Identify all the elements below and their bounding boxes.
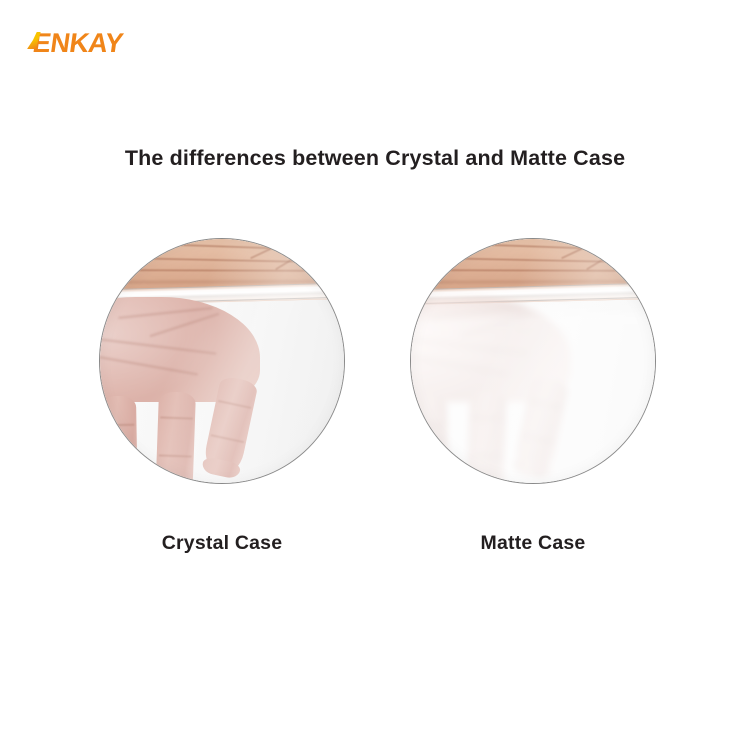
- finger-ring: [100, 396, 138, 484]
- hand-through-case: [410, 297, 612, 484]
- brand-logo: ENKAY: [33, 29, 123, 57]
- matte-case-photo: [410, 238, 656, 484]
- caption-crystal: Crystal Case: [99, 532, 345, 555]
- matte-scene: [410, 238, 656, 484]
- crystal-scene: [99, 238, 345, 484]
- finger-middle: [155, 391, 196, 484]
- comparison-item-matte: Matte Case: [410, 238, 656, 555]
- finger-ring: [411, 396, 449, 484]
- brand-name: ENKAY: [31, 28, 125, 58]
- page-title: The differences between Crystal and Matt…: [0, 146, 750, 172]
- brand-wordmark: ENKAY: [31, 30, 124, 57]
- crystal-case-photo: [99, 238, 345, 484]
- comparison-row: Crystal Case: [0, 238, 750, 578]
- comparison-item-crystal: Crystal Case: [99, 238, 345, 555]
- hand-through-case: [99, 297, 301, 484]
- finger-middle: [466, 391, 507, 484]
- caption-matte: Matte Case: [410, 532, 656, 555]
